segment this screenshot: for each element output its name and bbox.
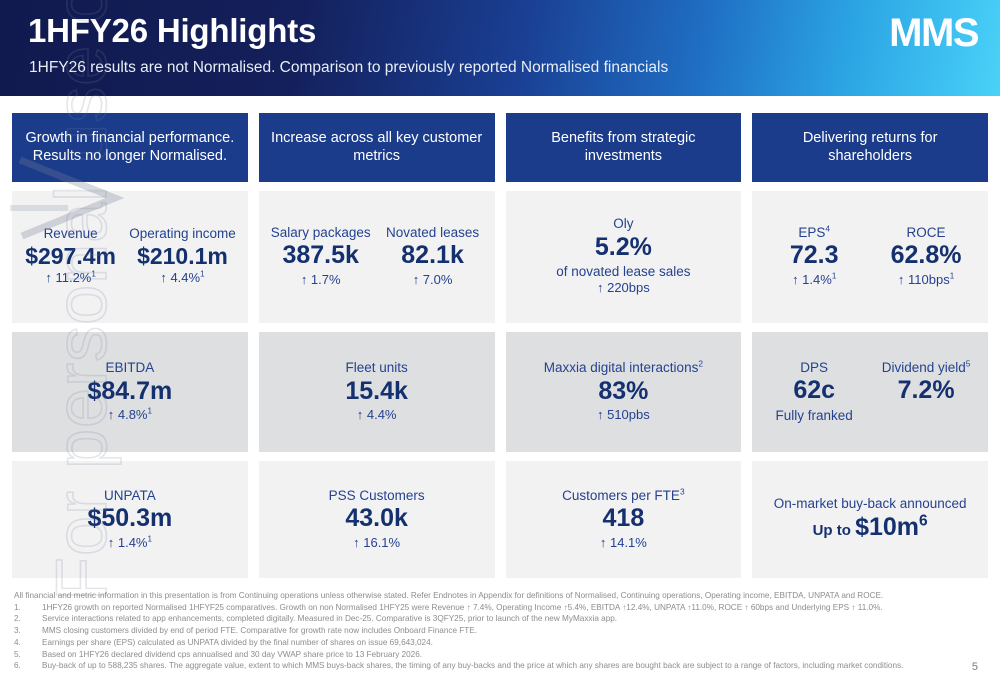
metric-value-text: $297.4m [25,243,116,269]
footnote-text: Based on 1HFY26 declared dividend cps an… [42,649,986,661]
metric-value: 62c [793,375,835,406]
metric-label: Salary packages [271,225,371,241]
metric-label-text: Revenue [44,226,98,241]
footnote-item: 3.MMS closing customers divided by end o… [14,625,986,637]
metric-row: EBITDA$84.7m↑ 4.8%1 [18,360,242,424]
metric-change-footnote-ref: 1 [148,534,152,543]
slide-header: 1HFY26 Highlights 1HFY26 results are not… [0,0,1000,96]
metric-value-text: $210.1m [137,243,228,269]
metric-change-text: ↑ 11.2% [45,270,91,285]
highlight-column: Growth in financial performance. Results… [12,113,248,578]
metric-card: On-market buy-back announcedUp to $10m6 [752,461,988,578]
metric-label-text: Operating income [129,226,236,241]
footnote-list: 1.1HFY26 growth on reported Normalised 1… [14,602,986,672]
metric-value: 15.4k [345,376,408,407]
footnote-number: 2. [14,613,42,625]
metric-card: Salary packages387.5k↑ 1.7%Novated lease… [259,191,495,323]
metric: DPS62cFully franked [758,360,870,424]
metric-card: UNPATA$50.3m↑ 1.4%1 [12,461,248,578]
metric-card: EPS472.3↑ 1.4%1ROCE62.8%↑ 110bps1 [752,191,988,323]
footnote-text: Earnings per share (EPS) calculated as U… [42,637,986,649]
metric-change: ↑ 7.0% [413,272,453,289]
highlight-column: Increase across all key customer metrics… [259,113,495,578]
metric-change-footnote-ref: 1 [832,271,836,280]
metric-label: PSS Customers [329,488,425,504]
metric-change: ↑ 4.4%1 [160,270,204,287]
footnote-number: 4. [14,637,42,649]
metric-change: ↑ 1.4%1 [792,272,836,289]
metric-change-text: ↑ 4.8% [108,407,148,422]
metric-value-text: 7.2% [898,376,955,404]
metric-change-text: ↑ 4.4% [160,270,200,285]
metric-value-footnote-ref: 6 [919,512,928,529]
metric-value-text: 418 [603,504,645,532]
metric-label-text: Dividend yield [882,360,966,375]
metric-label: Revenue [44,226,98,242]
metric-row: UNPATA$50.3m↑ 1.4%1 [18,488,242,552]
metric-label-text: Oly [613,216,633,231]
metric-value: $297.4m [25,242,116,271]
metric-card: Oly5.2%of novated lease sales↑ 220bps [506,191,742,323]
metric-value: 5.2% [595,232,652,263]
metric-row: Maxxia digital interactions283%↑ 510pbs [512,360,736,424]
metric-value: 7.2% [898,375,955,406]
metric-change: ↑ 510pbs [597,407,650,424]
metric-label: EBITDA [105,360,154,376]
footnote-number: 1. [14,602,42,614]
metric-value-text: $10m [855,513,919,541]
metric-label-text: EBITDA [105,360,154,375]
metric-label: ROCE [907,225,946,241]
metric-change: ↑ 4.4% [357,407,397,424]
slide-root: 1HFY26 Highlights 1HFY26 results are not… [0,0,1000,685]
metric-label: Maxxia digital interactions2 [544,360,703,376]
metric-label-footnote-ref: 2 [698,359,703,369]
metric-label-text: ROCE [907,225,946,240]
metric-change: Fully franked [776,407,853,425]
metric-row: DPS62cFully frankedDividend yield57.2% [758,360,982,424]
metric-card: Customers per FTE3418↑ 14.1% [506,461,742,578]
footnote-item: 6.Buy-back of up to 588,235 shares. The … [14,660,986,672]
metric-value: 62.8% [891,240,962,271]
metric: ROCE62.8%↑ 110bps1 [870,225,982,289]
metric-card: Revenue$297.4m↑ 11.2%1Operating income$2… [12,191,248,323]
metric-value: Up to $10m6 [813,512,928,543]
metric-change: ↑ 1.7% [301,272,341,289]
metric-card: Fleet units15.4k↑ 4.4% [259,332,495,453]
metric-change-text: ↑ 1.7% [301,272,341,287]
metric-label: Novated leases [386,225,479,241]
metric-change-text: ↑ 4.4% [357,407,397,422]
highlight-column: Benefits from strategic investmentsOly5.… [506,113,742,578]
metric-label: On-market buy-back announced [774,496,967,512]
metric-row: Fleet units15.4k↑ 4.4% [265,360,489,424]
column-heading: Increase across all key customer metrics [259,113,495,182]
metric-label-text: DPS [800,360,828,375]
metric-card: Maxxia digital interactions283%↑ 510pbs [506,332,742,453]
footnote-text: Service interactions related to app enha… [42,613,986,625]
metric-card: DPS62cFully frankedDividend yield57.2% [752,332,988,453]
metric-value-text: $50.3m [87,504,172,532]
metric-value: $84.7m [87,376,172,407]
metric: EBITDA$84.7m↑ 4.8%1 [81,360,178,424]
metric-label-text: Customers per FTE [562,488,680,503]
metric-change: ↑ 1.4%1 [108,535,152,552]
metric-row: PSS Customers43.0k↑ 16.1% [265,488,489,552]
footnote-text: Buy-back of up to 588,235 shares. The ag… [42,660,986,672]
page-number: 5 [972,661,978,673]
column-heading: Benefits from strategic investments [506,113,742,182]
metric-label: Operating income [129,226,236,242]
metric-label-text: Fleet units [345,360,407,375]
metric-label: UNPATA [104,488,156,504]
metric: Novated leases82.1k↑ 7.0% [377,225,489,289]
metric-change: ↑ 16.1% [353,535,400,552]
metric-value: 83% [598,376,648,407]
metric: Salary packages387.5k↑ 1.7% [265,225,377,289]
metric-change-text: ↑ 510pbs [597,407,650,422]
metric-label: Fleet units [345,360,407,376]
metric-value: 43.0k [345,503,408,534]
footnote-item: 5.Based on 1HFY26 declared dividend cps … [14,649,986,661]
metric: Maxxia digital interactions283%↑ 510pbs [538,360,709,424]
metric: EPS472.3↑ 1.4%1 [758,225,870,289]
metric-change: ↑ 11.2%1 [45,270,96,287]
metric-value-text: 387.5k [282,241,358,269]
metric: On-market buy-back announcedUp to $10m6 [768,496,973,543]
metric-label-text: Salary packages [271,225,371,240]
metric-label-footnote-ref: 5 [966,358,971,368]
metric-label: Dividend yield5 [882,360,971,376]
page-title: 1HFY26 Highlights [28,12,316,50]
metric-label: EPS4 [798,225,830,241]
metric-value-text: $84.7m [87,377,172,405]
metric-value-text: 83% [598,377,648,405]
metric-row: Customers per FTE3418↑ 14.1% [512,488,736,552]
metric-change-text: Fully franked [776,408,853,423]
metric-change-text: ↑ 14.1% [600,535,647,550]
metric: Oly5.2%of novated lease sales↑ 220bps [550,216,696,297]
footnote-number: 5. [14,649,42,661]
metric-label-footnote-ref: 3 [680,486,685,496]
metric-change-footnote-ref: 1 [91,270,95,279]
footnote-number: 6. [14,660,42,672]
column-heading: Delivering returns for shareholders [752,113,988,182]
metric-change-text: ↑ 16.1% [353,535,400,550]
highlights-grid: Growth in financial performance. Results… [12,113,988,578]
footnote-item: 2.Service interactions related to app en… [14,613,986,625]
mms-logo: MMS [889,11,978,56]
metric-change-secondary: ↑ 220bps [597,280,650,297]
metric: Customers per FTE3418↑ 14.1% [556,488,690,552]
metric-row: On-market buy-back announcedUp to $10m6 [758,496,982,543]
column-heading: Growth in financial performance. Results… [12,113,248,182]
metric-value: 418 [603,503,645,534]
metric-label-text: Maxxia digital interactions [544,360,699,375]
metric-change: ↑ 14.1% [600,535,647,552]
metric: PSS Customers43.0k↑ 16.1% [323,488,431,552]
metric-value: 72.3 [790,240,839,271]
footnote-item: 1.1HFY26 growth on reported Normalised 1… [14,602,986,614]
metric-label-text: PSS Customers [329,488,425,503]
metric-change: ↑ 110bps1 [898,272,954,289]
metric-value-text: 43.0k [345,504,408,532]
page-subtitle: 1HFY26 results are not Normalised. Compa… [29,59,668,77]
metric-change-text: ↑ 1.4% [792,272,832,287]
metric-value-prefix: Up to [813,522,856,539]
metric-label: Oly [613,216,633,232]
metric-change: of novated lease sales [556,263,690,281]
metric: Operating income$210.1m↑ 4.4%1 [123,226,242,287]
metric-row: Salary packages387.5k↑ 1.7%Novated lease… [265,225,489,289]
metric-row: EPS472.3↑ 1.4%1ROCE62.8%↑ 110bps1 [758,225,982,289]
metric-change: ↑ 4.8%1 [108,407,152,424]
metric-change-footnote-ref: 1 [950,271,954,280]
metric-label-text: UNPATA [104,488,156,503]
metric-change-text: of novated lease sales [556,264,690,279]
metric-value-text: 82.1k [401,241,464,269]
metric-card: PSS Customers43.0k↑ 16.1% [259,461,495,578]
metric-label-text: EPS [798,225,825,240]
metric-label: Customers per FTE3 [562,488,684,504]
footnote-number: 3. [14,625,42,637]
metric-value: 387.5k [282,240,358,271]
metric: Dividend yield57.2% [870,360,982,407]
metric-change-text: ↑ 1.4% [108,535,148,550]
metric-label: DPS [800,360,828,376]
metric-value-text: 72.3 [790,241,839,269]
metric-change-text: ↑ 7.0% [413,272,453,287]
highlight-column: Delivering returns for shareholdersEPS47… [752,113,988,578]
footnotes: All financial and metric information in … [14,590,986,672]
footnote-text: 1HFY26 growth on reported Normalised 1HF… [42,602,986,614]
metric-value: $210.1m [137,242,228,271]
metric: UNPATA$50.3m↑ 1.4%1 [81,488,178,552]
metric-value: $50.3m [87,503,172,534]
footnote-text: MMS closing customers divided by end of … [42,625,986,637]
metric-change-footnote-ref: 1 [148,407,152,416]
metric-label-footnote-ref: 4 [825,223,830,233]
footnote-item: 4.Earnings per share (EPS) calculated as… [14,637,986,649]
metric: Fleet units15.4k↑ 4.4% [339,360,414,424]
metric-label-text: On-market buy-back announced [774,496,967,511]
metric-change-text: ↑ 110bps [898,272,950,287]
metric-value-text: 62c [793,376,835,404]
metric-row: Oly5.2%of novated lease sales↑ 220bps [512,216,736,297]
metric: Revenue$297.4m↑ 11.2%1 [18,226,123,287]
metric-value-text: 5.2% [595,233,652,261]
metric-card: EBITDA$84.7m↑ 4.8%1 [12,332,248,453]
metric-row: Revenue$297.4m↑ 11.2%1Operating income$2… [18,226,242,287]
metric-label-text: Novated leases [386,225,479,240]
footnote-lead: All financial and metric information in … [14,590,986,602]
metric-value-text: 15.4k [345,377,408,405]
metric-value-text: 62.8% [891,241,962,269]
metric-value: 82.1k [401,240,464,271]
metric-change-footnote-ref: 1 [200,270,204,279]
